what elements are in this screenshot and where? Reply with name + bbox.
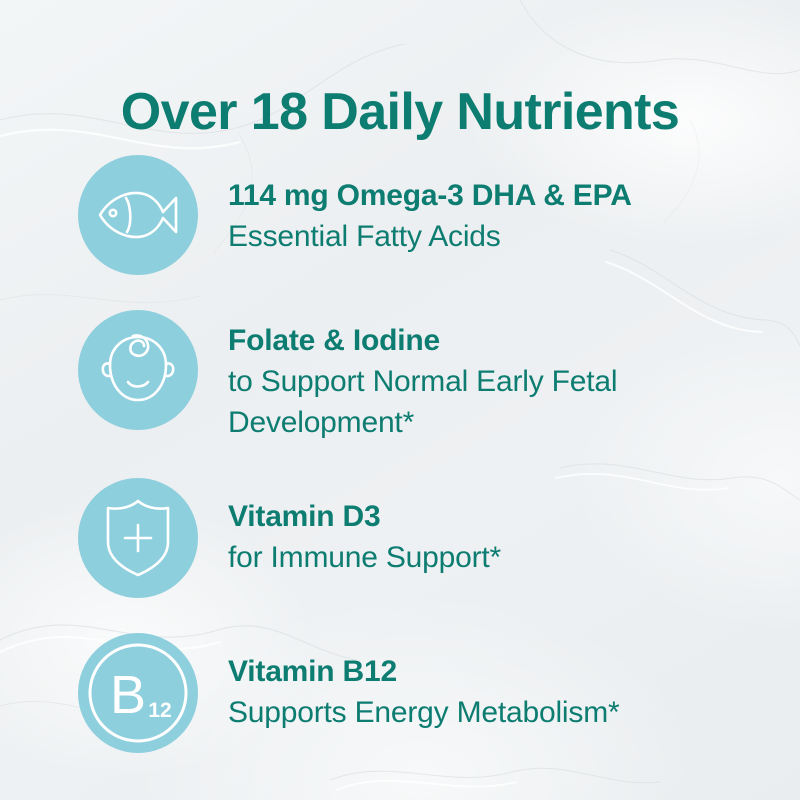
nutrient-row-folate-iodine: Folate & Iodine to Support Normal Early … xyxy=(78,310,748,443)
nutrient-subline: Supports Energy Metabolism* xyxy=(228,692,619,733)
nutrient-copy: Vitamin B12 Supports Energy Metabolism* xyxy=(228,633,619,733)
nutrient-headline: 114 mg Omega-3 DHA & EPA xyxy=(228,175,632,216)
nutrient-copy: Vitamin D3 for Immune Support* xyxy=(228,478,501,578)
b12-subscript: 12 xyxy=(148,699,171,722)
icon-badge xyxy=(78,155,198,275)
nutrient-subline: Essential Fatty Acids xyxy=(228,216,632,257)
nutrient-row-vitamin-d3: Vitamin D3 for Immune Support* xyxy=(78,478,501,598)
icon-badge: B 12 xyxy=(78,633,198,753)
page-title: Over 18 Daily Nutrients xyxy=(0,83,800,141)
icon-badge xyxy=(78,310,198,430)
nutrient-headline: Vitamin D3 xyxy=(228,496,501,537)
shield-plus-icon xyxy=(102,498,174,578)
nutrient-headline: Folate & Iodine xyxy=(228,320,748,361)
b12-icon: B 12 xyxy=(86,641,190,745)
nutrient-copy: Folate & Iodine to Support Normal Early … xyxy=(228,310,748,443)
icon-badge xyxy=(78,478,198,598)
fish-icon xyxy=(96,185,180,245)
baby-face-icon xyxy=(100,332,176,408)
nutrient-copy: 114 mg Omega-3 DHA & EPA Essential Fatty… xyxy=(228,155,632,257)
nutrient-subline: to Support Normal Early Fetal Developmen… xyxy=(228,361,748,443)
nutrient-infographic: Over 18 Daily Nutrients 114 mg Omega-3 D… xyxy=(0,0,800,800)
nutrient-row-vitamin-b12: B 12 Vitamin B12 Supports Energy Metabol… xyxy=(78,633,619,753)
nutrient-subline: for Immune Support* xyxy=(228,537,501,578)
nutrient-row-omega3: 114 mg Omega-3 DHA & EPA Essential Fatty… xyxy=(78,155,632,275)
nutrient-headline: Vitamin B12 xyxy=(228,651,619,692)
b12-letter: B xyxy=(110,665,146,725)
